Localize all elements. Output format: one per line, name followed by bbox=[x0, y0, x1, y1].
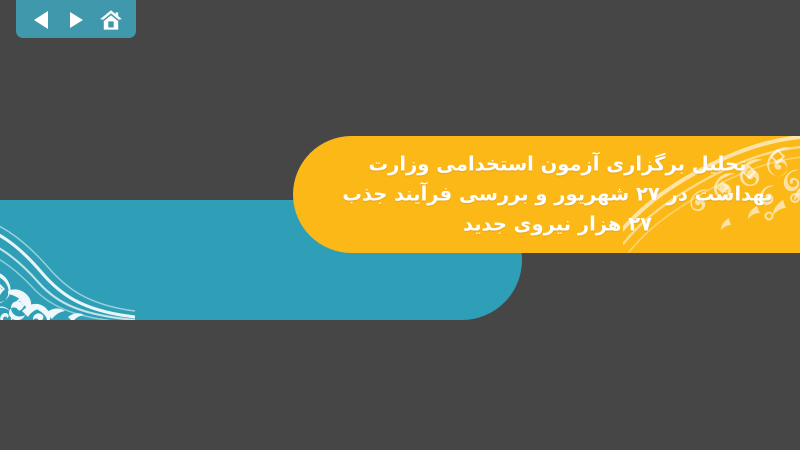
headline-line-3: ۲۷ هزار نیروی جدید bbox=[330, 210, 785, 240]
back-button[interactable] bbox=[28, 7, 54, 33]
headline-line-1: تحلیل برگزاری آزمون استخدامی وزارت bbox=[330, 149, 785, 179]
home-icon bbox=[99, 8, 123, 32]
headline-banner: تحلیل برگزاری آزمون استخدامی وزارت بهداش… bbox=[293, 136, 800, 253]
forward-button[interactable] bbox=[63, 7, 89, 33]
forward-icon bbox=[66, 9, 86, 31]
back-icon bbox=[31, 9, 51, 31]
headline-text: تحلیل برگزاری آزمون استخدامی وزارت بهداش… bbox=[330, 149, 785, 240]
headline-line-2: بهداشت در ۲۷ شهریور و بررسی فرآیند جذب bbox=[330, 179, 785, 209]
arabesque-ornament-teal bbox=[0, 200, 135, 320]
navigation-bar bbox=[16, 0, 136, 38]
home-button[interactable] bbox=[98, 7, 124, 33]
slide-canvas: تحلیل برگزاری آزمون استخدامی وزارت بهداش… bbox=[0, 0, 800, 450]
